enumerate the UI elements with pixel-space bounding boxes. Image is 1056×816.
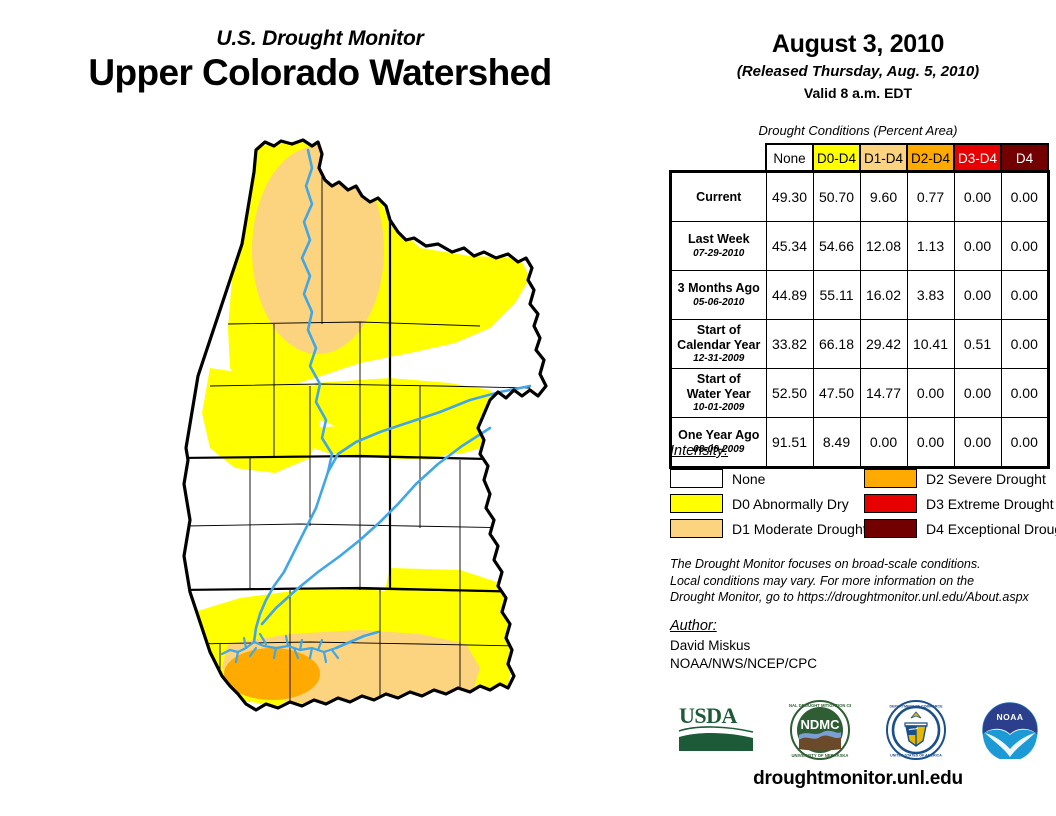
table-cell: 54.66 bbox=[813, 222, 860, 271]
legend-label: None bbox=[732, 471, 765, 487]
author-title: Author: bbox=[670, 618, 1050, 634]
page-title: Upper Colorado Watershed bbox=[0, 52, 640, 93]
legend-item: D0 Abnormally Dry bbox=[670, 491, 850, 516]
supertitle: U.S. Drought Monitor bbox=[0, 28, 640, 50]
legend: Intensity: NoneD2 Severe DroughtD0 Abnor… bbox=[670, 443, 1050, 541]
legend-item: None bbox=[670, 466, 850, 491]
table-row: Last Week07-29-201045.3454.6612.081.130.… bbox=[671, 222, 1048, 271]
drought-conditions-table: NoneD0-D4D1-D4D2-D4D3-D4D4 Current49.305… bbox=[670, 143, 1049, 468]
info-panel: August 3, 2010 (Released Thursday, Aug. … bbox=[660, 0, 1056, 816]
legend-swatch bbox=[864, 494, 917, 513]
commerce-seal[interactable]: DEPARTMENT OF COMMERCE UNITED STATES OF … bbox=[885, 699, 947, 761]
author-block: Author: David Miskus NOAA/NWS/NCEP/CPC bbox=[670, 618, 1050, 673]
legend-item: D3 Extreme Drought bbox=[864, 491, 1044, 516]
legend-title: Intensity: bbox=[670, 443, 1050, 459]
legend-swatch bbox=[670, 469, 723, 488]
table-cell: 9.60 bbox=[860, 172, 907, 222]
table-col-header-d3-d4: D3-D4 bbox=[954, 144, 1001, 172]
svg-text:UNITED STATES OF AMERICA: UNITED STATES OF AMERICA bbox=[890, 754, 942, 758]
table-cell: 0.00 bbox=[954, 369, 1001, 418]
author-affiliation: NOAA/NWS/NCEP/CPC bbox=[670, 655, 1050, 673]
table-cell: 0.00 bbox=[954, 271, 1001, 320]
table-cell: 29.42 bbox=[860, 320, 907, 369]
footnote-line-1: The Drought Monitor focuses on broad-sca… bbox=[670, 556, 1050, 573]
table-cell: 45.34 bbox=[766, 222, 813, 271]
released-note: (Released Thursday, Aug. 5, 2010) bbox=[660, 63, 1056, 80]
table-cell: 50.70 bbox=[813, 172, 860, 222]
table-row-date: 07-29-2010 bbox=[675, 248, 763, 260]
release-date: August 3, 2010 bbox=[660, 30, 1056, 59]
table-cell: 55.11 bbox=[813, 271, 860, 320]
table-col-header-d4: D4 bbox=[1001, 144, 1048, 172]
table-cell: 12.08 bbox=[860, 222, 907, 271]
svg-text:USDA: USDA bbox=[679, 703, 738, 728]
table-row-date: 12-31-2009 bbox=[675, 353, 763, 365]
legend-item: D4 Exceptional Drought bbox=[864, 516, 1044, 541]
legend-label: D4 Exceptional Drought bbox=[926, 521, 1056, 537]
footnote-line-3: Drought Monitor, go to https://droughtmo… bbox=[670, 589, 1050, 606]
table-cell: 16.02 bbox=[860, 271, 907, 320]
ndmc-logo[interactable]: NDMC NATIONAL DROUGHT MITIGATION CENTER … bbox=[789, 699, 851, 761]
table-cell: 66.18 bbox=[813, 320, 860, 369]
table-cell: 0.00 bbox=[1001, 369, 1048, 418]
legend-swatch bbox=[864, 469, 917, 488]
table-row-label: Last Week07-29-2010 bbox=[671, 222, 766, 271]
legend-swatch bbox=[864, 519, 917, 538]
svg-text:NOAA: NOAA bbox=[996, 712, 1023, 722]
table-row-label: Start ofWater Year10-01-2009 bbox=[671, 369, 766, 418]
table-cell: 0.51 bbox=[954, 320, 1001, 369]
legend-label: D2 Severe Drought bbox=[926, 471, 1046, 487]
legend-label: D0 Abnormally Dry bbox=[732, 496, 849, 512]
table-cell: 33.82 bbox=[766, 320, 813, 369]
svg-text:NATIONAL DROUGHT MITIGATION CE: NATIONAL DROUGHT MITIGATION CENTER bbox=[789, 703, 851, 708]
svg-text:UNIVERSITY OF NEBRASKA: UNIVERSITY OF NEBRASKA bbox=[792, 753, 849, 758]
table-cell: 0.00 bbox=[1001, 271, 1048, 320]
table-row-label: Start ofCalendar Year12-31-2009 bbox=[671, 320, 766, 369]
author-name: David Miskus bbox=[670, 637, 1050, 655]
footnote: The Drought Monitor focuses on broad-sca… bbox=[670, 556, 1050, 606]
site-url[interactable]: droughtmonitor.unl.edu bbox=[660, 768, 1056, 790]
table-cell: 0.00 bbox=[1001, 172, 1048, 222]
table-cell: 10.41 bbox=[907, 320, 954, 369]
footnote-line-2: Local conditions may vary. For more info… bbox=[670, 573, 1050, 590]
table-col-header-d0-d4: D0-D4 bbox=[813, 144, 860, 172]
table-cell: 3.83 bbox=[907, 271, 954, 320]
table-col-header-d2-d4: D2-D4 bbox=[907, 144, 954, 172]
table-cell: 0.00 bbox=[1001, 222, 1048, 271]
table-cell: 1.13 bbox=[907, 222, 954, 271]
legend-item: D1 Moderate Drought bbox=[670, 516, 850, 541]
table-cell: 0.00 bbox=[907, 369, 954, 418]
legend-item: D2 Severe Drought bbox=[864, 466, 1044, 491]
table-row: Start ofWater Year10-01-200952.5047.5014… bbox=[671, 369, 1048, 418]
table-row: Current49.3050.709.600.770.000.00 bbox=[671, 172, 1048, 222]
table-cell: 0.77 bbox=[907, 172, 954, 222]
table-cell: 0.00 bbox=[1001, 320, 1048, 369]
valid-time: Valid 8 a.m. EDT bbox=[660, 85, 1056, 101]
date-block: August 3, 2010 (Released Thursday, Aug. … bbox=[660, 30, 1056, 101]
map-panel: U.S. Drought Monitor Upper Colorado Wate… bbox=[0, 0, 660, 816]
table-cell: 0.00 bbox=[954, 172, 1001, 222]
table-row-date: 05-06-2010 bbox=[675, 297, 763, 309]
table-row: 3 Months Ago05-06-201044.8955.1116.023.8… bbox=[671, 271, 1048, 320]
legend-label: D1 Moderate Drought bbox=[732, 521, 867, 537]
svg-text:DEPARTMENT OF COMMERCE: DEPARTMENT OF COMMERCE bbox=[889, 705, 943, 709]
table-row-label: Current bbox=[671, 172, 766, 222]
table-cell: 14.77 bbox=[860, 369, 907, 418]
table-cell: 47.50 bbox=[813, 369, 860, 418]
drought-polygons bbox=[184, 136, 530, 706]
logo-row: USDA NDMC NATIONAL DROUGHT MITIGATION CE… bbox=[660, 694, 1056, 766]
table-cell: 49.30 bbox=[766, 172, 813, 222]
table-body: Current49.3050.709.600.770.000.00Last We… bbox=[671, 172, 1048, 467]
legend-swatch bbox=[670, 494, 723, 513]
drought-map[interactable] bbox=[60, 128, 620, 788]
noaa-logo[interactable]: NOAA bbox=[981, 701, 1039, 759]
table-corner-cell bbox=[671, 144, 766, 172]
legend-swatch bbox=[670, 519, 723, 538]
table-caption: Drought Conditions (Percent Area) bbox=[660, 123, 1056, 138]
table-cell: 44.89 bbox=[766, 271, 813, 320]
table-cell: 0.00 bbox=[954, 222, 1001, 271]
svg-text:NDMC: NDMC bbox=[801, 717, 841, 732]
usda-logo[interactable]: USDA bbox=[677, 701, 755, 759]
table-col-header-none: None bbox=[766, 144, 813, 172]
table-row-label: 3 Months Ago05-06-2010 bbox=[671, 271, 766, 320]
table-header-row: NoneD0-D4D1-D4D2-D4D3-D4D4 bbox=[671, 144, 1048, 172]
legend-label: D3 Extreme Drought bbox=[926, 496, 1054, 512]
table-row: Start ofCalendar Year12-31-200933.8266.1… bbox=[671, 320, 1048, 369]
legend-grid: NoneD2 Severe DroughtD0 Abnormally DryD3… bbox=[670, 466, 1050, 541]
table-cell: 52.50 bbox=[766, 369, 813, 418]
title-block: U.S. Drought Monitor Upper Colorado Wate… bbox=[0, 28, 640, 93]
table-row-date: 10-01-2009 bbox=[675, 402, 763, 414]
table-col-header-d1-d4: D1-D4 bbox=[860, 144, 907, 172]
